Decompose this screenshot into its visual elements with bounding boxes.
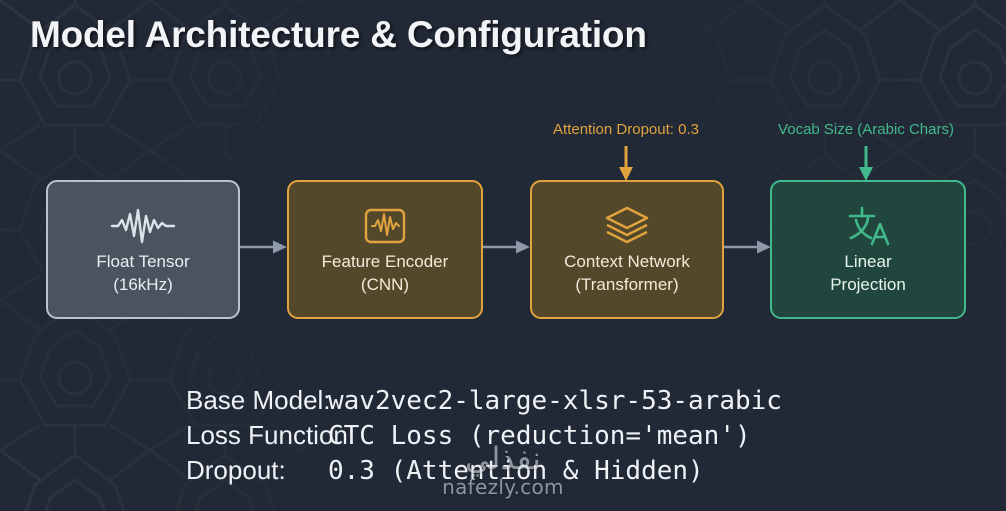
node-line-1: Context Network <box>564 252 690 271</box>
node-line-1: Feature Encoder <box>322 252 449 271</box>
pipeline-node-label: Feature Encoder(CNN) <box>322 251 449 296</box>
node-line-2: (Transformer) <box>575 275 678 294</box>
config-value: wav2vec2-large-xlsr-53-arabic <box>328 386 782 416</box>
node-line-2: Projection <box>830 275 906 294</box>
arrow-right-icon <box>483 238 531 256</box>
config-row: Loss Function: CTC Loss (reduction='mean… <box>186 420 782 455</box>
arrow-right-icon <box>240 238 288 256</box>
page-title: Model Architecture & Configuration <box>30 14 647 56</box>
node-line-2: (CNN) <box>361 275 409 294</box>
config-value: CTC Loss (reduction='mean') <box>328 421 751 451</box>
configuration-list: Base Model: wav2vec2-large-xlsr-53-arabi… <box>186 385 782 490</box>
pipeline-node-label: Context Network(Transformer) <box>564 251 690 296</box>
pipeline-node-float-tensor[interactable]: Float Tensor(16kHz) <box>46 180 240 319</box>
slide-root: Model Architecture & Configuration Atten… <box>0 0 1006 511</box>
audio-waveform-icon <box>110 203 176 249</box>
pipeline-node-label: LinearProjection <box>830 251 906 296</box>
config-row: Base Model: wav2vec2-large-xlsr-53-arabi… <box>186 385 782 420</box>
config-row: Dropout: 0.3 (Attention & Hidden) <box>186 455 782 490</box>
config-key: Dropout: <box>186 455 328 486</box>
pipeline-node-context-network[interactable]: Context Network(Transformer) <box>530 180 724 319</box>
pipeline-node-feature-encoder[interactable]: Feature Encoder(CNN) <box>287 180 483 319</box>
layers-stack-icon <box>603 203 651 249</box>
node-line-2: (16kHz) <box>113 275 173 294</box>
annotation-label-vocab-size: Vocab Size (Arabic Chars) <box>778 121 954 138</box>
annotation-label-attention-dropout: Attention Dropout: 0.3 <box>553 121 699 138</box>
config-value: 0.3 (Attention & Hidden) <box>328 456 704 486</box>
waveform-in-frame-icon <box>363 203 407 249</box>
config-key: Loss Function: <box>186 420 328 451</box>
translate-icon <box>844 203 892 249</box>
node-line-1: Linear <box>844 252 891 271</box>
config-key: Base Model: <box>186 385 328 416</box>
arrow-right-icon <box>724 238 772 256</box>
pipeline-node-label: Float Tensor(16kHz) <box>96 251 189 296</box>
node-line-1: Float Tensor <box>96 252 189 271</box>
pipeline-node-linear-projection[interactable]: LinearProjection <box>770 180 966 319</box>
arrow-down-icon <box>857 146 875 182</box>
arrow-down-icon <box>617 146 635 182</box>
